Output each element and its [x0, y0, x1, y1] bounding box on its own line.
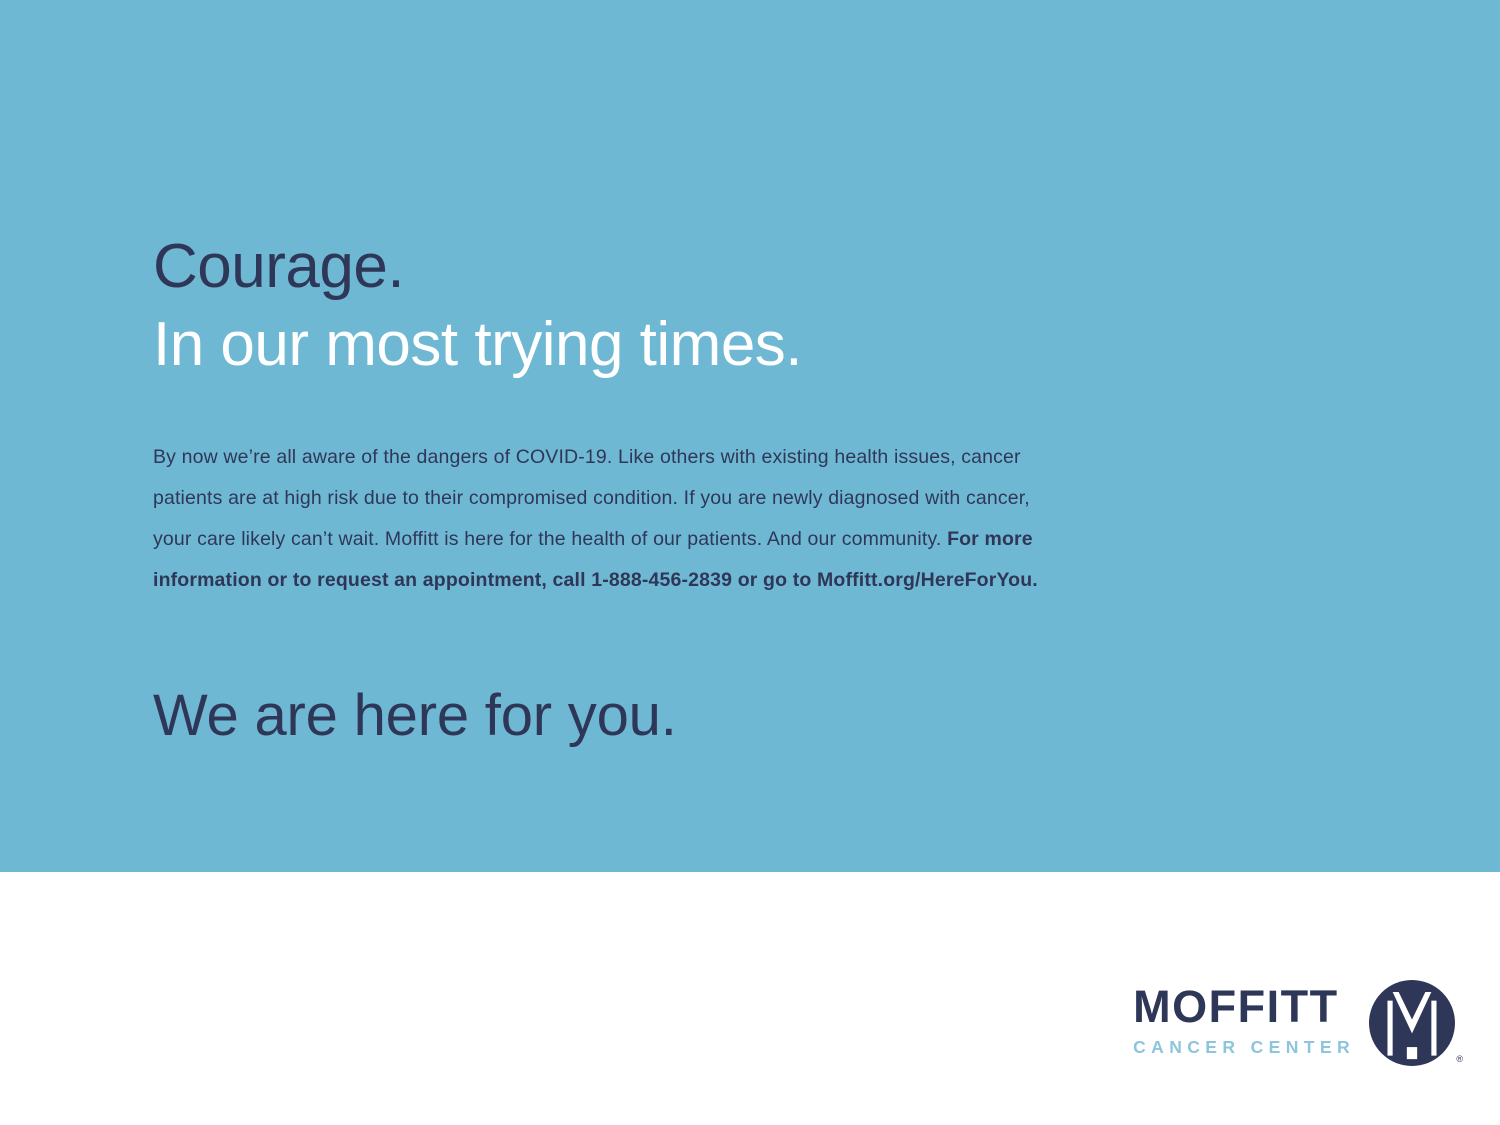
hero-content: Courage. In our most trying times. By no… — [153, 228, 1043, 749]
advertisement-poster: Courage. In our most trying times. By no… — [0, 0, 1500, 1125]
logo-subline: CANCER CENTER — [1133, 1029, 1355, 1058]
moffitt-m-monogram-icon: ® — [1369, 980, 1455, 1066]
hero-panel: Courage. In our most trying times. By no… — [0, 0, 1500, 872]
headline-line-2: In our most trying times. — [153, 306, 1043, 384]
registered-trademark-icon: ® — [1456, 1055, 1463, 1064]
page-title: Courage. In our most trying times. — [153, 228, 1043, 384]
headline-line-1: Courage. — [153, 228, 1043, 306]
tagline: We are here for you. — [153, 601, 1043, 749]
body-paragraph: By now we’re all aware of the dangers of… — [153, 384, 1041, 601]
logo-wordmark: MOFFITT — [1133, 984, 1338, 1029]
footer-panel: MOFFITT CANCER CENTER — [0, 872, 1500, 1125]
logo-typography: MOFFITT CANCER CENTER — [1133, 980, 1355, 1058]
body-text: By now we’re all aware of the dangers of… — [153, 446, 1030, 550]
moffitt-logo: MOFFITT CANCER CENTER — [1133, 980, 1455, 1066]
